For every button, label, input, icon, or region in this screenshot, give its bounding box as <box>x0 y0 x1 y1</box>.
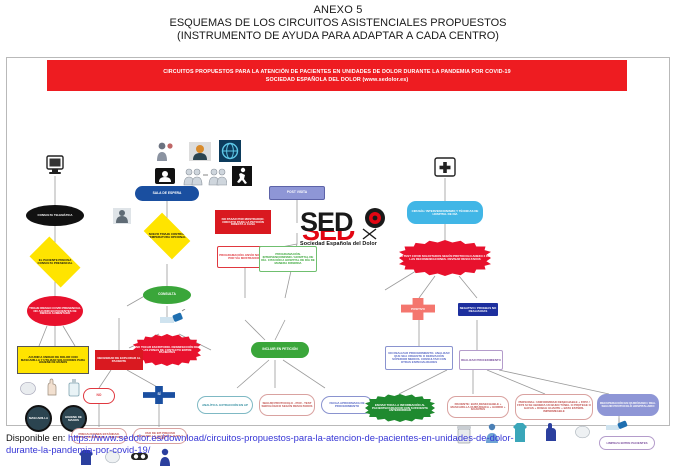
node-necesidad-explorar[interactable]: NECESIDAD DE EXPLORAR AL PACIENTE <box>95 350 143 370</box>
node-realizar-procedimiento[interactable]: REALIZAR PROCEDIMIENTO <box>459 350 503 370</box>
page-title: ANEXO 5 <box>0 4 676 17</box>
node-consulta-telematica[interactable]: CONSULTA TELEMÁTICA <box>26 205 84 226</box>
footer-label: Disponible en: <box>6 432 65 443</box>
node-enviar-informacion[interactable]: ENVIAR TODA LA INFORMACIÓN AL PACIENTE/C… <box>365 394 435 422</box>
page-subtitle-2: (INSTRUMENTO DE AYUDA PARA ADAPTAR A CAD… <box>0 30 676 43</box>
node-recuperacion-quirofano[interactable]: RECUPERACIÓN EN QUIRÓFANO / REA. SEGUIR … <box>597 394 659 416</box>
node-post-visita[interactable]: POST VISITA <box>269 186 325 200</box>
diagram-banner: CIRCUITOS PROPUESTOS PARA LA ATENCIÓN DE… <box>47 60 627 91</box>
source-url-line-1[interactable]: https://www.sedolor.es/download/circuito… <box>68 432 514 443</box>
banner-line-2: SOCIEDAD ESPAÑOLA DEL DOLOR (www.sedolor… <box>266 76 408 84</box>
node-si-test-covid[interactable]: SI TEST COVID SOLICITADOS SEGÚN PROTOCOL… <box>399 240 491 276</box>
node-incluir-peticion[interactable]: INCLUIR EN PETICIÓN <box>251 342 309 358</box>
node-mascarilla[interactable]: MASCARILLA <box>25 405 52 432</box>
node-no-pasar-mostrador[interactable]: NO PASAR POR MOSTRADOR. CIRCUITO PARA LA… <box>215 210 271 234</box>
node-cirugia-intervencionismo[interactable]: CIRUGÍA / INTERVENCIONISMO Y TÉCNICAS DE… <box>407 201 483 224</box>
node-nuevo-triaje[interactable]: NUEVO TRIAJE CONTROL TEMPERATURA OPCIONA… <box>144 213 191 260</box>
source-url-line-2[interactable]: durante-la-pandemia-por-covid-19/ <box>6 444 150 455</box>
patient-card-icon <box>153 166 177 186</box>
node-consulta[interactable]: CONSULTA <box>143 286 191 304</box>
exit-person-icon <box>231 165 253 186</box>
source-footer: Disponible en: https://www.sedolor.es/do… <box>6 432 670 456</box>
node-triaje-riesgo-covid[interactable]: TRIAJE RIESGO COVID PRESENCIAL NO ACUDIR… <box>27 296 83 326</box>
soap-dispenser-icon <box>65 377 83 397</box>
node-negativo[interactable]: NEGATIVO / PRUEBAS NO REALIZADAS <box>457 302 499 317</box>
distance-people-icon <box>182 166 228 186</box>
page-title-block: ANEXO 5 ESQUEMAS DE LOS CIRCUITOS ASISTE… <box>0 0 676 43</box>
node-paciente-precisa-consulta-presencial[interactable]: EL PACIENTE PRECISA CONSULTA PRESENCIAL <box>30 237 81 288</box>
infected-person-icon <box>153 140 175 162</box>
node-analitica[interactable]: ANALÍTICA. EXTRACCIÓN EN AP <box>197 396 253 414</box>
sed-logo: SED SED Sociedad Española del Dolor <box>300 209 408 261</box>
node-paciente-bata[interactable]: PACIENTE: BATA DESECHABLE + MASCARILLA Q… <box>447 396 509 418</box>
node-seguir-protocolo[interactable]: SEGUIR PROTOCOLO - PCR - TEST SEROLÓGICO… <box>259 394 315 416</box>
diagram-frame: CIRCUITOS PROPUESTOS PARA LA ATENCIÓN DE… <box>6 57 670 426</box>
face-mask-icon <box>19 380 37 396</box>
node-positivo[interactable]: POSITIVO <box>401 298 435 320</box>
waiting-room-people-icon <box>187 140 213 162</box>
node-no-realizar-procedimiento[interactable]: NO REALIZAR PROCEDIMIENTO. ANALIZAR QUE … <box>385 346 453 370</box>
sed-logo-arrow-icon <box>362 228 378 240</box>
page-subtitle-1: ESQUEMAS DE LOS CIRCUITOS ASISTENCIALES … <box>0 17 676 30</box>
node-no-tocar-escritorio[interactable]: NO TOCAR ESCRITORIO. DESINFECCIÓN DE LAS… <box>133 334 201 366</box>
doctor-consultation-icon <box>111 206 133 226</box>
sed-logo-target-icon <box>364 207 386 229</box>
node-acudir-unidad-dolor[interactable]: ACUDIR A UNIDAD DE DOLOR CON MASCARILLA … <box>17 346 89 374</box>
node-personal-uniformidad[interactable]: PERSONAL: UNIFORMIDAD DESECHABLE + FFP2 … <box>515 394 593 420</box>
banner-line-1: CIRCUITOS PROPUESTOS PARA LA ATENCIÓN DE… <box>163 68 511 76</box>
world-globe-icon <box>218 139 242 162</box>
node-si-explorar[interactable]: SÍ <box>143 386 175 404</box>
node-no-explorar[interactable]: NO <box>83 388 115 404</box>
node-sala-espera[interactable]: SALA DE ESPERA <box>135 186 199 201</box>
node-fecha-aproximada[interactable]: FECHA APROXIMADA DE PROCEDIMIENTO <box>321 396 373 414</box>
telemedicine-monitor-icon <box>41 154 69 176</box>
hand-hygiene-icon <box>42 378 60 396</box>
hospital-cross-icon <box>433 156 457 178</box>
syringe-icon <box>157 308 187 326</box>
